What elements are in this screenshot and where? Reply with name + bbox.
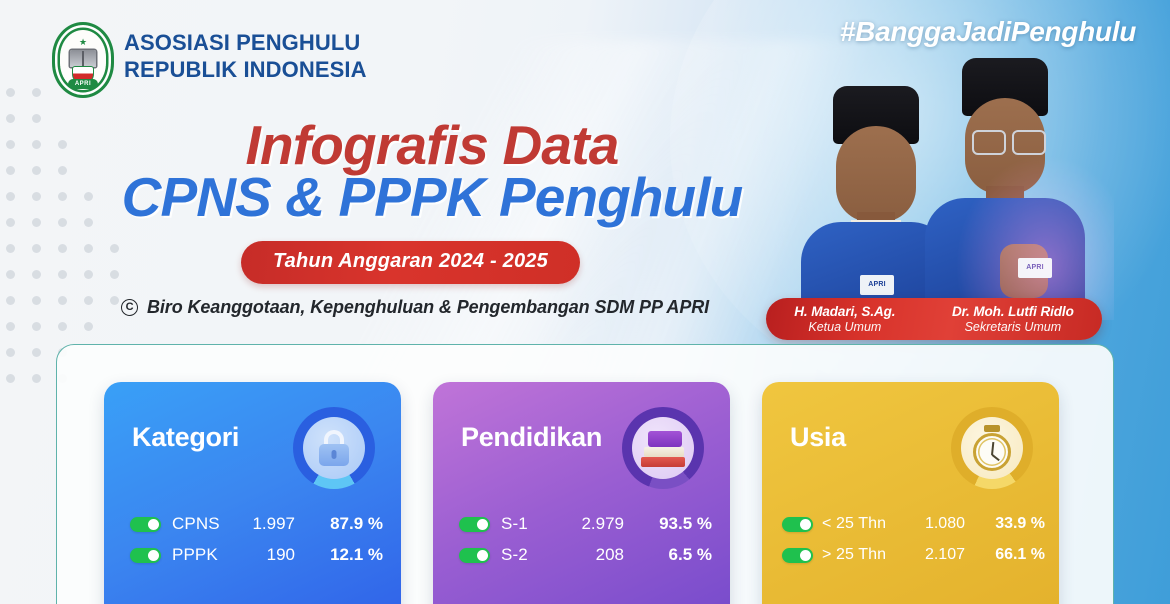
toggle-knob xyxy=(477,550,488,561)
stat-label: < 25 Thn xyxy=(822,515,908,533)
decorative-dot xyxy=(6,348,15,357)
toggle-knob xyxy=(148,550,159,561)
decorative-dot xyxy=(58,270,67,279)
card-rows: S-12.97993.5 %S-22086.5 % xyxy=(459,510,712,572)
stat-percent: 87.9 % xyxy=(309,514,383,534)
org-name-line-1: ASOSIASI PENGHULU xyxy=(124,29,367,56)
stat-value: 1.080 xyxy=(908,515,975,533)
decorative-dot xyxy=(32,296,41,305)
decorative-dot xyxy=(84,244,93,253)
official-name: H. Madari, S.Ag. xyxy=(794,304,895,319)
fiscal-year-badge: Tahun Anggaran 2024 - 2025 xyxy=(241,241,580,284)
book-icon xyxy=(70,50,96,67)
card-title: Usia xyxy=(790,422,846,453)
stat-card-kategori[interactable]: KategoriCPNS1.99787.9 %PPPK19012.1 % xyxy=(104,382,401,604)
stat-value: 2.979 xyxy=(579,514,638,534)
decorative-dot xyxy=(32,270,41,279)
stat-value: 1.997 xyxy=(250,514,309,534)
card-icon-circle xyxy=(961,417,1023,479)
infographic-poster: ★ APRI ASOSIASI PENGHULU REPUBLIK INDONE… xyxy=(0,0,1170,604)
stat-row: CPNS1.99787.9 % xyxy=(130,510,383,538)
stat-card-usia[interactable]: Usia< 25 Thn1.08033.9 %> 25 Thn2.10766.1… xyxy=(762,382,1059,604)
card-rows: CPNS1.99787.9 %PPPK19012.1 % xyxy=(130,510,383,572)
card-icon-ring xyxy=(293,407,375,489)
stat-label: S-2 xyxy=(501,545,579,565)
face xyxy=(836,126,916,222)
card-title: Kategori xyxy=(132,422,239,453)
lock-icon xyxy=(317,430,351,466)
page-title-line-2: CPNS & PPPK Penghulu xyxy=(0,170,864,225)
decorative-dot xyxy=(6,374,15,383)
official-photo-2: APRI xyxy=(914,58,1104,320)
stat-row: S-22086.5 % xyxy=(459,541,712,569)
decorative-dot xyxy=(58,296,67,305)
copyright-icon: C xyxy=(121,299,138,316)
decorative-dot xyxy=(32,348,41,357)
stat-label: > 25 Thn xyxy=(822,546,908,564)
toggle-switch[interactable] xyxy=(459,548,490,563)
official-role: Sekretaris Umum xyxy=(952,320,1074,334)
emblem-ribbon-label: APRI xyxy=(68,79,98,89)
decorative-dot xyxy=(84,322,93,331)
decorative-dot xyxy=(110,244,119,253)
organization-name: ASOSIASI PENGHULU REPUBLIK INDONESIA xyxy=(124,29,367,84)
stat-percent: 66.1 % xyxy=(975,546,1045,564)
decorative-dot xyxy=(6,322,15,331)
decorative-dot xyxy=(32,88,41,97)
jacket-patch-icon: APRI xyxy=(1018,258,1052,278)
card-icon-circle xyxy=(632,417,694,479)
official-name: Dr. Moh. Lutfi Ridlo xyxy=(952,304,1074,319)
jacket-patch-icon: APRI xyxy=(860,275,894,295)
toggle-knob xyxy=(800,519,811,530)
decorative-dot xyxy=(32,322,41,331)
stat-row: > 25 Thn2.10766.1 % xyxy=(782,541,1045,569)
toggle-knob xyxy=(148,519,159,530)
org-name-line-2: REPUBLIK INDONESIA xyxy=(124,56,367,83)
toggle-switch[interactable] xyxy=(459,517,490,532)
credit-text: Biro Keanggotaan, Kepenghuluan & Pengemb… xyxy=(147,297,709,318)
stat-row: < 25 Thn1.08033.9 % xyxy=(782,510,1045,538)
decorative-dot xyxy=(84,296,93,305)
credit-line: C Biro Keanggotaan, Kepenghuluan & Penge… xyxy=(121,297,709,318)
stat-percent: 6.5 % xyxy=(638,545,712,565)
statistics-cards: KategoriCPNS1.99787.9 %PPPK19012.1 %Pend… xyxy=(104,382,1079,604)
officials-photos: APRI APRI xyxy=(784,60,1114,320)
official-name-block-2: Dr. Moh. Lutfi RidloSekretaris Umum xyxy=(952,304,1074,333)
stat-value: 208 xyxy=(579,545,638,565)
glasses-icon xyxy=(972,130,1046,152)
official-name-block-1: H. Madari, S.Ag.Ketua Umum xyxy=(794,304,895,333)
decorative-dot xyxy=(58,322,67,331)
stat-percent: 93.5 % xyxy=(638,514,712,534)
stat-percent: 33.9 % xyxy=(975,515,1045,533)
apri-logo: ★ APRI xyxy=(52,22,114,98)
stat-card-pendidikan[interactable]: PendidikanS-12.97993.5 %S-22086.5 % xyxy=(433,382,730,604)
toggle-switch[interactable] xyxy=(130,548,161,563)
decorative-dot xyxy=(6,88,15,97)
page-title-line-1: Infografis Data xyxy=(0,118,864,173)
decorative-dot xyxy=(32,374,41,383)
decorative-dot xyxy=(6,244,15,253)
stat-value: 2.107 xyxy=(908,546,975,564)
stat-row: PPPK19012.1 % xyxy=(130,541,383,569)
decorative-dot xyxy=(84,270,93,279)
decorative-dot xyxy=(58,244,67,253)
card-title: Pendidikan xyxy=(461,422,602,453)
decorative-dot xyxy=(32,244,41,253)
card-icon-ring xyxy=(622,407,704,489)
apri-emblem-icon: ★ APRI xyxy=(52,22,114,98)
stopwatch-icon xyxy=(970,425,1014,471)
stat-label: S-1 xyxy=(501,514,579,534)
toggle-switch[interactable] xyxy=(782,517,813,532)
card-rows: < 25 Thn1.08033.9 %> 25 Thn2.10766.1 % xyxy=(782,510,1045,572)
decorative-dot xyxy=(6,270,15,279)
hashtag: #BanggaJadiPenghulu xyxy=(840,16,1136,48)
decorative-dot xyxy=(110,296,119,305)
stat-label: PPPK xyxy=(172,545,250,565)
stat-row: S-12.97993.5 % xyxy=(459,510,712,538)
toggle-switch[interactable] xyxy=(130,517,161,532)
stat-label: CPNS xyxy=(172,514,250,534)
card-icon-circle xyxy=(303,417,365,479)
star-icon: ★ xyxy=(79,38,87,47)
stat-value: 190 xyxy=(250,545,309,565)
decorative-dot xyxy=(6,296,15,305)
toggle-knob xyxy=(477,519,488,530)
books-icon xyxy=(641,429,685,467)
officials-name-banner: H. Madari, S.Ag.Ketua UmumDr. Moh. Lutfi… xyxy=(766,298,1102,340)
card-icon-ring xyxy=(951,407,1033,489)
decorative-dot xyxy=(110,270,119,279)
toggle-switch[interactable] xyxy=(782,548,813,563)
toggle-knob xyxy=(800,550,811,561)
stat-percent: 12.1 % xyxy=(309,545,383,565)
official-role: Ketua Umum xyxy=(794,320,895,334)
